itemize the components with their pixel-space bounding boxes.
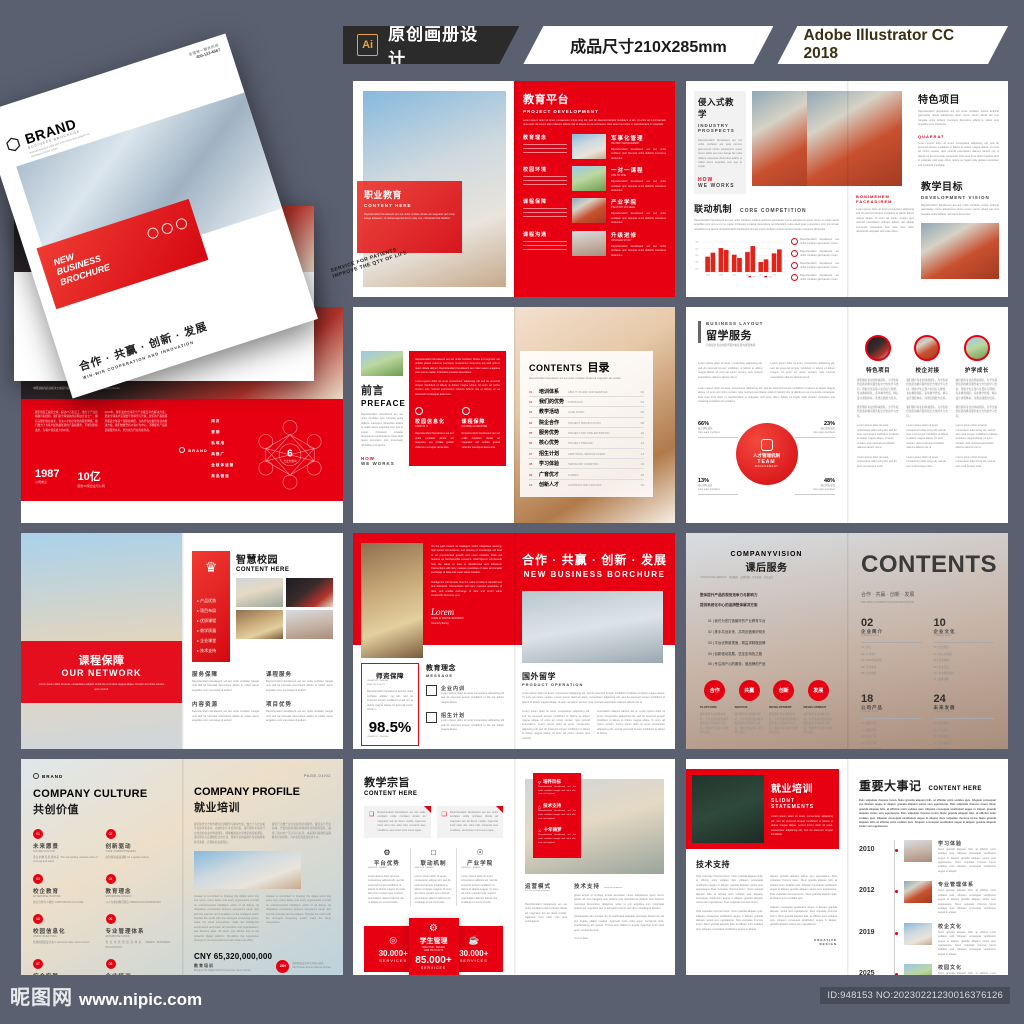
hub-label: 大业务板块 [283, 459, 297, 463]
s9-item[interactable]: 02 创新驱动 CORE COMPETITIVENESS 创新驱动发展战略 It… [106, 829, 171, 865]
s6-menu-panel[interactable]: ♛ ▸ 产品优势 ▸ 项目布局 ▸ 优质课程 ▸ 教学质量 ▸ 企业课堂 ▸ 技… [192, 551, 230, 662]
spread-s4[interactable]: 前言 PREFACE Reprehenderit facudesent aut … [353, 307, 675, 523]
s9-item-cn: 综合实践 [33, 972, 98, 975]
s9-item-cn: 教育理念 [106, 887, 171, 895]
s9-item-en: FUTURE OUTLOOK [33, 850, 98, 854]
timeline-year: 2010 [859, 840, 889, 853]
s10-col-en: SERVICE · BRAND [461, 867, 499, 871]
item-en: THANKS [568, 474, 638, 477]
s5-title-cn: 留学服务 [706, 327, 763, 343]
s8-line: 05 | 专注用户心的服务，做品牌的产品 [708, 662, 833, 668]
timeline-entry[interactable]: 2025 校园文化 Nunc gravida aliquam felis, at… [859, 964, 996, 975]
s6-title-cn: 课程保障 [79, 652, 125, 668]
s7-right-title-en: PRODUCT OPERATION [522, 682, 665, 687]
s3-stat-label: 公司成立 [35, 480, 59, 485]
ai-icon: Ai [357, 34, 378, 56]
item-cn: 教学活动 [539, 408, 565, 415]
s8-circle-en: DEVELOPMENT [804, 705, 834, 710]
s1-item-photo-title: 产业学院 [611, 198, 666, 206]
s6-photo [236, 610, 283, 639]
s6-menu-label: 企业课堂 [200, 638, 216, 643]
s9-item-cn: 专业管理体系 [106, 927, 171, 935]
s10-left-page: 教学宗旨 CONTENT HERE ❑ Reprehenderit facude… [353, 759, 514, 975]
s9-item[interactable]: 06 专业管理体系 ENTERPRISE VISION 专业化管理运营体系 TE… [106, 914, 171, 950]
s7-right-page: 合作 · 共赢 · 创新 · 发展 NEW BUSINESS BORCHURE … [514, 533, 675, 749]
s1-item-photo-sub: MILITARY MANAGEMENT [611, 142, 666, 146]
s6-block-body: Reprehenderit facudesent aut aut unitis … [192, 710, 259, 723]
s8-circle-item[interactable]: 创新 DEVELOPMENT 我们拥有专业的教育团队，为学生提供优质教育服务和全… [769, 680, 799, 735]
s7-right-body: Lorem ipsum dolor sit amet, consectetur … [522, 692, 665, 705]
s2-right-body: Reprehenderit facudesent aut aut unitis … [918, 110, 999, 128]
s8-lines: 01 | 我们为您打造最好的产业教育平台 02 | 携手共创未来，共同创造美好明… [700, 619, 833, 668]
s10-note-card: ❑ Reprehenderit facudesent aut aut uniti… [364, 806, 431, 838]
s8-circle-item[interactable]: 共赢 SERVICE 我们拥有专业的教育团队，为学生提供优质教育服务和全方位的学… [735, 680, 765, 735]
s5-card[interactable]: 特色项目 我们拥有专业的师资团队，为学生提供优质的教育服务和全方位的学习支持，帮… [857, 335, 899, 469]
contents-item[interactable]: 03 教学活动 CASE STUDY 06 [529, 407, 644, 417]
tab-software-label: Adobe Illustrator CC 2018 [803, 27, 982, 63]
track-photo-right [807, 91, 902, 186]
s8-section-item: 12 | 课程介绍 [861, 722, 922, 726]
s6-block: 项目优势 Reprehenderit facudesent aut aut un… [266, 700, 333, 723]
s2-sec2-cn: 联动机制 [694, 202, 732, 215]
item-no: 10 [529, 483, 536, 487]
s1-item-photo-sub: INDUSTRY COLLEGE [611, 206, 666, 210]
contents-item[interactable]: 08 学习体验 TERMS AND CONDITION 16 [529, 459, 644, 469]
item-en: ADDITIONAL SERVICE OFFER [568, 453, 638, 456]
s8-section-item: 04 | 企业使命 [861, 666, 922, 670]
item-cn: 培训体系 [539, 388, 565, 395]
s5-card-body4: Lorem ipsum dolor sit amet, consectetur … [857, 456, 899, 469]
s10-stat-center-label: SERVICES [421, 966, 446, 970]
spread-s6[interactable]: 课程保障 OUR NETWORK Lorem ipsum dolor sit a… [21, 533, 343, 749]
s8-lead2: 提供系统化中心的品牌整体解决方案 [700, 602, 833, 608]
item-page: 14 [641, 452, 644, 456]
page-gutter [847, 307, 849, 523]
s1-item-label: 课程沟通 [523, 231, 567, 238]
page-gutter [182, 759, 184, 975]
s5-card-body: 我们拥有专业的师资团队，为学生提供优质的教育服务和全方位的学习支持，帮助学生实现… [956, 379, 998, 401]
s6-block-cn: 服务保障 [192, 670, 259, 678]
s8-title-en: COMPANYVISION [700, 551, 833, 558]
s6-menu-item[interactable]: ▸ 优质课程 [197, 618, 225, 624]
s5-stat: 48% 核心团队成员 Core team members [795, 478, 835, 495]
s9-right-body3: Huawei is committed to bringing the digi… [194, 895, 259, 943]
item-page: 12 [641, 441, 644, 445]
s3-list-item: 私域用 [211, 441, 245, 446]
chart-notes: Reprehenderit facudesent aut unitis conf… [791, 238, 839, 285]
item-en: PROJECT AND TIME ESTIMATION [568, 432, 638, 435]
s9-badge-en: We Provide 24-hour Rescue Service [292, 966, 331, 970]
s6-menu-item[interactable]: ▸ 项目布局 [197, 608, 225, 614]
s7-script-sign: Lorem [431, 607, 502, 617]
s11-red-banner: 就业培训 SLIDNT STATEMENTS Lorem ipsum dolor… [686, 769, 839, 849]
s5-card[interactable]: 护学成长 我们拥有专业的师资团队，为学生提供优质的教育服务和全方位的学习支持，帮… [956, 335, 998, 469]
hexagon-network-diagram: 6 大业务板块 [251, 415, 329, 493]
contents-item[interactable]: 02 我们的优势 PORTFOLIO 04 [529, 397, 644, 407]
s2-right-title-cn: 特色项目 [918, 91, 999, 106]
timeline-entry[interactable]: 2019 校企文化 Nunc gravida aliquam felis, at… [859, 923, 996, 957]
s5-card[interactable]: 校企对接 我们拥有专业的师资团队，为学生提供优质的教育服务和全方位的学习支持，帮… [906, 335, 948, 469]
spread-s7[interactable]: On the path toward an intelligent world,… [353, 533, 675, 749]
s10-col[interactable]: ☉ 产业学院 SERVICE · BRAND Lorem ipsum dolor… [457, 848, 503, 906]
s6-photo [286, 610, 333, 639]
svg-text:500: 500 [695, 248, 698, 250]
search-icon: ⚲ [538, 780, 541, 785]
spread-s10[interactable]: 教学宗旨 CONTENT HERE ❑ Reprehenderit facude… [353, 759, 675, 975]
s1-item[interactable]: 教育理念 军事化管理 MILITARY MANAGEMENT Reprehend… [523, 134, 666, 161]
s1-left-caption-box: 职业教育 CONTENT HERE Reprehenderit facudese… [357, 181, 462, 253]
s10-note-body: Reprehenderit facudesent aut aut unitis … [450, 811, 498, 833]
s6-menu-item[interactable]: ▸ 企业课堂 [197, 638, 225, 644]
s9-page-no: PAGE-01/02 [194, 773, 331, 778]
s7-feat1-cn: 企业内训 [441, 685, 504, 692]
cup-icon: ☕ [468, 935, 479, 946]
s6-right-page: ♛ ▸ 产品优势 ▸ 项目布局 ▸ 优质课程 ▸ 教学质量 ▸ 企业课堂 ▸ 技… [182, 533, 343, 749]
s4-card2-cn: 课程保障 [462, 418, 501, 425]
svg-text:100: 100 [695, 268, 698, 270]
s10-flag: ⚔ 十年铸梦 Reprehenderit facudesent aut aut … [538, 827, 576, 845]
s9-item-no: 06 [106, 914, 116, 924]
s9-item-en: ENTERPRISE PURPOSE [33, 895, 98, 899]
s3-stat: 10亿 服务72家企业与公司 [77, 468, 104, 489]
s6-left-page: 课程保障 OUR NETWORK Lorem ipsum dolor sit a… [21, 533, 182, 749]
tab-size-label: 成品尺寸210X285mm [570, 33, 727, 57]
tab-design[interactable]: Ai 原创画册设计 [343, 26, 519, 64]
s10-title1-en: ale et it ratraeque duntam [525, 890, 567, 894]
item-no: 09 [529, 473, 536, 477]
s6-block-body: Reprehenderit facudesent aut aut unitis … [266, 710, 333, 723]
s9-right-body1: 我们提供全方位的教育培训服务与解决方案，致力于为企业和学员提供专业化、系统化的人… [194, 823, 265, 845]
s10-col[interactable]: ⚙ 平台优势 SERVICE · BRAND Lorem ipsum dolor… [364, 848, 410, 906]
spread-s8[interactable]: COMPANYVISION 课后服务 CONSULTING SERVICE · … [686, 533, 1008, 749]
s8-circle: 合作 [704, 680, 725, 701]
s8-section-en: COMPANY NEWS [861, 635, 922, 639]
s6-block: 内容资源 Reprehenderit facudesent aut aut un… [192, 700, 259, 723]
s7-box-value-sub: CREATIVE · DESIGN [367, 736, 413, 740]
contents-item[interactable]: 04 院企合作 PROJECT SPECIFICATION 08 [529, 418, 644, 428]
header-ribbons: Ai 原创画册设计 成品尺寸210X285mm Adobe Illustrato… [343, 26, 1008, 64]
item-en: ABOUT US AND OUR SERVICES [568, 391, 638, 394]
s4-card1-body: Reprehenderit facudesent aut aut unitis … [415, 432, 454, 450]
s4-card1-cn: 校园信息化 [415, 418, 454, 425]
s11-right-title-en: CONTENT HERE [929, 786, 982, 792]
page-gutter [847, 533, 849, 749]
contents-list[interactable]: 01 培训体系 ABOUT US AND OUR SERVICES 02 02 … [529, 386, 644, 489]
s9-item[interactable]: 04 教育理念 ENTERPRISE MISSION 以人为本的教育理念 OPE… [106, 874, 171, 905]
timeline-photo [904, 840, 932, 862]
s8-circle-item[interactable]: 发展 DEVELOPMENT 我们拥有专业的教育团队，为学生提供优质教育服务和全… [804, 680, 834, 735]
s8-left-page: COMPANYVISION 课后服务 CONSULTING SERVICE · … [686, 533, 847, 749]
s6-photo [236, 578, 283, 607]
s1-item-desc: Reprehenderit facudesent aut aut unitis … [611, 245, 666, 258]
s9-photo [194, 851, 301, 889]
s6-menu-label: 项目布局 [200, 608, 216, 613]
tab-software[interactable]: Adobe Illustrator CC 2018 [777, 26, 1008, 64]
s1-item-list: 教育理念 军事化管理 MILITARY MANAGEMENT Reprehend… [523, 134, 666, 258]
item-page: 16 [641, 462, 644, 466]
s9-item[interactable]: 05 校园信息化 VISION OBJECTIVES 智慧校园建设方案 It o… [33, 914, 98, 950]
timeline-cn: 学习体验 [938, 840, 996, 847]
s6-block-cn: 课程服务 [266, 670, 333, 678]
s11-body-col2: aliquet. gravida aliquam varius sem eges… [770, 875, 837, 932]
s6-block-cn: 内容资源 [192, 700, 259, 708]
timeline-year: 2019 [859, 923, 889, 936]
s2-sec2-body: Reprehenderit facudesent aut aut unitis … [694, 219, 839, 232]
cover-icon-1 [146, 226, 160, 240]
tab-size[interactable]: 成品尺寸210X285mm [523, 26, 773, 64]
s1-left-title-en: CONTENT HERE [364, 203, 455, 208]
s8-section-item: 01 | 前言 [861, 646, 922, 650]
page-gutter [514, 759, 516, 975]
s10-col[interactable]: □ 联动机制 SERVICE · BRAND Lorem ipsum dolor… [411, 848, 457, 906]
s7-right-title-cn: 国外留学 [522, 671, 665, 682]
s9-title-en: COMPANY CULTURE [33, 788, 170, 800]
s8-section-item: 14 | 主打产品 [861, 735, 922, 739]
s8-section[interactable]: 02 企业简介 COMPANY NEWS 01 | 前言 02 | 公司简介 0… [861, 617, 922, 683]
s10-title2-body: grauit amnet ut confaus amnet amnanteri … [574, 894, 664, 912]
s5-card-body4: Lorem ipsum dolor sit amet, consectetur … [906, 456, 948, 469]
hexagon-logo-icon [3, 134, 23, 154]
svg-text:2022: 2022 [759, 274, 763, 276]
page-gutter [182, 533, 184, 749]
s6-block-body: Reprehenderit facudesent aut aut unitis … [192, 680, 259, 693]
image-id-badge: ID:948153 NO:20230221230016376126 [820, 987, 1010, 1004]
pen-icon [426, 685, 437, 696]
s1-item-photo [572, 231, 606, 256]
hub-number: 6 [287, 448, 293, 459]
s5-right-page: 特色项目 我们拥有专业的师资团队，为学生提供优质的教育服务和全方位的学习支持，帮… [847, 307, 1008, 523]
s8-line: 02 | 携手共创未来，共同创造美好明天 [708, 630, 833, 636]
s7-box-en2: WEB PRODUCTS [367, 684, 413, 688]
s4-card2-en: COURSE GUARANTEE [462, 425, 501, 429]
contents-item[interactable]: 09 广育优才 THANKS 18 [529, 469, 644, 479]
s9-item[interactable]: 08 企业培训 ENTERPRISE SPIRIT 企业培训定制服务 DO MO… [106, 959, 171, 975]
s10-flag-cn: 培养目标 [543, 779, 561, 785]
s5-left-page: BUSINESS LAYOUT 留学服务 为您提供专业的留学服务和优质的课程体验… [686, 307, 847, 523]
s9-amount: CNY 65,320,000,000 [194, 952, 272, 961]
s10-stat-right-value: 30.000+ [459, 949, 488, 958]
s9-item[interactable]: 03 校企教育 ENTERPRISE PURPOSE 校企合作育人模式 CORP… [33, 874, 98, 905]
s9-item-no: 07 [33, 959, 43, 969]
s8-title-cn: 课后服务 [700, 559, 833, 574]
s8-lead1: 整体提升产品的视觉竞争力与影响力 [700, 592, 833, 598]
s9-item-no: 08 [106, 959, 116, 969]
s6-menu-item[interactable]: ▸ 产品优势 [197, 598, 225, 604]
s9-item-body: 专业化管理运营体系 TERRIS BUSINESS PHILOSOPHY [106, 941, 171, 950]
s9-item[interactable]: 07 综合实践 CORE VALUES 综合实践能力培养 The compell… [33, 959, 98, 975]
s6-desc: Lorem ipsum dolor sit amet, consectetur … [37, 683, 167, 692]
s10-title-en: CONTENT HERE [364, 791, 503, 797]
s8-section-item: 02 | 公司简介 [861, 653, 922, 657]
timeline-dot [895, 890, 898, 893]
s6-menu-item[interactable]: ▸ 技术支持 [197, 648, 225, 654]
s9-item-en: ENTERPRISE VISION [106, 935, 171, 939]
s11-right-intro: Duis vulputate rhoncus lorem. Nunc gravi… [859, 799, 996, 830]
cover-mockup[interactable]: 集团简介 GROUP PROFILE 全国统一服务热线 400-123-4567… [6, 56, 356, 386]
s8-circle-body: 我们拥有专业的教育团队，为学生提供优质教育服务和全方位的学习支持，帮助学生实现人… [700, 713, 730, 735]
s1-item-label: 校园环境 [523, 166, 567, 173]
s10-title1-cn: 运营模式 [525, 882, 567, 890]
people-icon [761, 439, 773, 451]
s8-section-en: CONTENT HERE [861, 711, 922, 715]
s8-circle: 创新 [773, 680, 794, 701]
timeline-dot [895, 849, 898, 852]
s9-item-no: 05 [33, 914, 43, 924]
s3-stat-value: 1987 [35, 468, 59, 480]
s6-menu-label: 优质课程 [200, 618, 216, 623]
s2-left-body: Reprehenderit facudesent aut aut unitis … [698, 139, 742, 170]
s5-title-en: BUSINESS LAYOUT [706, 321, 763, 326]
s7-right-col1: Lorem ipsum dolor sit amet, consectetur … [522, 710, 590, 741]
s3-list-item: 营销 [211, 430, 245, 435]
s5-card-body2: 我们拥有专业的师资团队，为学生提供优质的教育服务和全方位的学习支持。 [857, 406, 899, 419]
s10-flag-cn: 十年铸梦 [544, 827, 562, 833]
contents-item[interactable]: 07 招生计划 ADDITIONAL SERVICE OFFER 14 [529, 449, 644, 459]
gear-icon: ⚙ [368, 848, 406, 857]
chat-icon: □ [415, 848, 453, 857]
s8-section-no: 10 [934, 617, 995, 629]
s8-line: 04 | 创新驱动发展，坚定走特色之路 [708, 652, 833, 658]
timeline-cn: 校园文化 [938, 964, 996, 971]
s2-sub-en: WE WORKS [698, 183, 742, 189]
s11-body-title: 技术支持 [696, 859, 837, 870]
s3-list-item: 网页 [211, 419, 245, 424]
s10-col-en: SERVICE · BRAND [415, 867, 453, 871]
svg-text:2018: 2018 [706, 274, 710, 276]
page-gutter [847, 759, 849, 975]
s7-feat2-body: Lorem ipsum dolor sit amet consectetur a… [441, 719, 504, 732]
s10-stat-center: ⚙ 学生管理 CREATIVE · DESIGN WEB PRODUCTS 85… [408, 918, 458, 975]
s8-section-item: 21 | 市场前景 [934, 735, 995, 739]
s6-menu-label: 教学质量 [200, 628, 216, 633]
s5-sub: 为您提供专业的留学服务和优质的课程体验 [706, 344, 763, 348]
s4-contents-title-en: CONTENTS [529, 363, 583, 373]
s11-sign2: DESIGN [696, 942, 837, 946]
s8-line: 01 | 我们为您打造最好的产业教育平台 [708, 619, 833, 625]
s6-block: 课程服务 Reprehenderit facudesent aut aut un… [266, 670, 333, 693]
item-en: CONTRACT AND SIGN OFF [568, 484, 638, 487]
s8-right-page: CONTENTS 合作 · 共赢 · 创新 · 发展 WIN-WIN COOPE… [847, 533, 1008, 749]
s1-item-photo-sub: ONE TO ONE [611, 174, 666, 178]
s10-stat-center-cn: 学生管理 [420, 936, 448, 946]
svg-text:700: 700 [695, 242, 698, 244]
s1-right-title-cn: 教育平台 [523, 91, 666, 107]
s10-flag-body: Reprehenderit facudesent aut aut unitis … [538, 786, 576, 797]
s7-highlight-box: 师资保障 CREATIVE · DESIGN WEB PRODUCTS Repr… [361, 663, 419, 746]
s2-mid-en2: FACEADIREM [856, 199, 914, 204]
s5-body3: Lorem ipsum dolor sit amet, consectetur … [698, 387, 835, 405]
s9-left-page: BRAND COMPANY CULTURE 共创价值 01 未来愿景 FUTUR… [21, 759, 182, 975]
s6-menu-item[interactable]: ▸ 教学质量 [197, 628, 225, 634]
classroom-photo: ⚲ 培养目标 Reprehenderit facudesent aut aut … [525, 779, 664, 874]
spread-s9[interactable]: BRAND COMPANY CULTURE 共创价值 01 未来愿景 FUTUR… [21, 759, 343, 975]
s1-item-label: 课程保障 [523, 198, 567, 205]
watermark-site-cn: 昵图网 [10, 981, 73, 1010]
gear-icon: ⚙ [429, 923, 438, 934]
spread-s2[interactable]: 侵入式教学 INDUSTRY PROSPECTS Reprehenderit f… [686, 81, 1008, 297]
s5-stat: 66% 核心团队成员 Core team members [698, 421, 738, 438]
contents-card: CONTENTS 目录 Reprehenderit facudesent aut… [520, 351, 653, 497]
s1-item-label: 教育理念 [523, 134, 567, 141]
s5-card-body4: Lorem ipsum dolor sit amet, consectetur … [956, 456, 998, 469]
s1-right-page: 教育平台 PROJECT DEVELOPMENT Lorem ipsum dol… [514, 81, 675, 297]
s5-card-body3: Lorem ipsum dolor sit amet, consectetur … [906, 424, 948, 450]
s1-left-title-cn: 职业教育 [364, 188, 455, 201]
spread-s5[interactable]: BUSINESS LAYOUT 留学服务 为您提供专业的留学服务和优质的课程体验… [686, 307, 1008, 523]
s11-right-page: 重要大事记 CONTENT HERE Duis vulputate rhoncu… [847, 759, 1008, 975]
s3-red-panel: 我们的员工遍及全球，超过27万名员工，致力于产业高端教育和创新。我们是全球领先的… [21, 399, 343, 501]
s6-right-title-cn: 智慧校园 [236, 551, 333, 566]
s9-item-body: 专业的教育培训体系 The compelling cultural code o… [33, 856, 98, 865]
timeline-cn: 专业管理体系 [938, 881, 996, 888]
s10-note-body: Reprehenderit facudesent aut aut unitis … [377, 811, 425, 833]
s8-circle-item[interactable]: 合作 PLATFORM 我们拥有专业的教育团队，为学生提供优质教育服务和全方位的… [700, 680, 730, 735]
s1-right-title-en: PROJECT DEVELOPMENT [523, 109, 666, 114]
s4-title-cn: 前言 [361, 382, 403, 398]
item-page: 04 [641, 400, 644, 404]
s8-section-item: 07 | 核心价值观 [934, 653, 995, 657]
contents-item[interactable]: 10 创新人才 CONTRACT AND SIGN OFF 20 [529, 480, 644, 489]
item-en: PROJECT TIMELINE [568, 442, 638, 445]
s5-stat-desc: Core team members [698, 488, 738, 492]
badge-icon [462, 407, 470, 415]
item-no: 04 [529, 421, 536, 425]
s1-item-photo-title: 升级进修 [611, 231, 666, 239]
s5-body2: Lorem ipsum dolor sit amet, consectetur … [771, 362, 836, 380]
item-no: 02 [529, 400, 536, 404]
s10-note-card: ❑ Reprehenderit facudesent aut aut uniti… [437, 806, 504, 838]
s9-item[interactable]: 01 未来愿景 FUTURE OUTLOOK 专业的教育培训体系 The com… [33, 829, 98, 865]
s8-section[interactable]: 18 公司产品 CONTENT HERE 12 | 课程介绍 13 | 招募合作… [861, 693, 922, 749]
s4-title-en: PREFACE [361, 399, 403, 408]
s4-right-page: CONTENTS 目录 Reprehenderit facudesent aut… [514, 307, 675, 523]
s8-section-no: 02 [861, 617, 922, 629]
s2-bottom-photo [921, 223, 999, 279]
s11-right-title-cn: 重要大事记 [859, 777, 922, 794]
s8-section-en: CONTENT HERE [934, 711, 995, 715]
s5-card-body2: 我们拥有专业的师资团队，为学生提供优质的教育服务和全方位的学习支持。 [956, 406, 998, 419]
warning-icon: △ [538, 804, 541, 809]
s7-slogan-cn: 合作 · 共赢 · 创新 · 发展 [514, 551, 675, 568]
item-no: 03 [529, 410, 536, 414]
s8-circle: 发展 [808, 680, 829, 701]
contents-item[interactable]: 06 核心优势 PROJECT TIMELINE 12 [529, 438, 644, 448]
item-no: 01 [529, 390, 536, 394]
spread-s1[interactable]: 职业教育 CONTENT HERE Reprehenderit facudese… [353, 81, 675, 297]
s8-section[interactable]: 24 未来发展 CONTENT HERE 19 | 未来展望 20 | 产业布局… [934, 693, 995, 749]
timeline-entry[interactable]: 2012 专业管理体系 Nunc gravida aliquam felis, … [859, 881, 996, 915]
spread-s11[interactable]: 就业培训 SLIDNT STATEMENTS Lorem ipsum dolor… [686, 759, 1008, 975]
s8-section[interactable]: 10 企业文化 COMPANY NEWS 06 | 企业理念 07 | 核心价值… [934, 617, 995, 683]
s2-mid-body: Lorem ipsum dolor sit amet consectetur a… [856, 208, 914, 234]
contents-item[interactable]: 05 服务优势 PROJECT AND TIME ESTIMATION 10 [529, 428, 644, 438]
timeline-entry[interactable]: 2010 学习体验 Nunc gravida aliquam felis, at… [859, 840, 996, 874]
s9-item-cn: 校企教育 [33, 887, 98, 895]
s10-title2-cn: 技术支持 [574, 882, 600, 890]
s10-stat-center-value: 85.000+ [415, 955, 451, 966]
contents-item[interactable]: 01 培训体系 ABOUT US AND OUR SERVICES 02 [529, 386, 644, 396]
watermark: 昵图网 www.nipic.com [10, 981, 202, 1010]
s11-title-cn: 就业培训 [771, 780, 833, 795]
s8-section-item: 22 | 战略规划 [934, 742, 995, 746]
s8-circle-en: SERVICE [735, 705, 765, 710]
item-page: 02 [641, 390, 644, 394]
s1-item[interactable]: 课程保障 产业学院 INDUSTRY COLLEGE Reprehenderit… [523, 198, 666, 225]
s7-slogan-en: NEW BUSINESS BORCHURE [514, 570, 675, 579]
s1-item[interactable]: 校园环境 一对一课程 ONE TO ONE Reprehenderit facu… [523, 166, 666, 193]
s1-item[interactable]: 课程沟通 升级进修 UPGRADE STUDY Reprehenderit fa… [523, 231, 666, 258]
s10-col-cn: 平台优势 [368, 859, 406, 867]
